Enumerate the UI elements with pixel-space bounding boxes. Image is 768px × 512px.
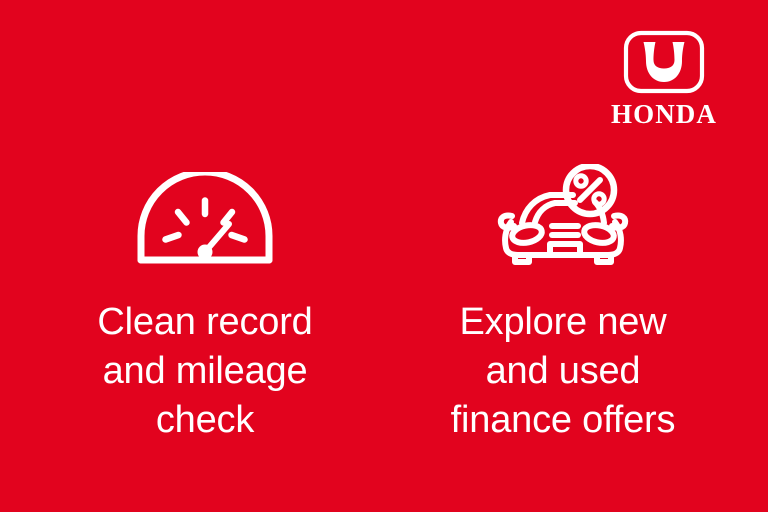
honda-wordmark: HONDA — [598, 99, 730, 129]
honda-brand-lockup: HONDA — [598, 30, 730, 129]
feature-list: Clean record and mileage check — [0, 160, 768, 445]
honda-feature-banner: HONDA — [0, 0, 768, 512]
honda-h-emblem-icon — [623, 30, 705, 94]
speedometer-icon — [133, 172, 277, 268]
honda-wordmark-text: HONDA — [611, 99, 717, 129]
feature-new-used-finance-offers: Explore new and used finance offers — [384, 160, 742, 445]
feature-caption: Explore new and used finance offers — [451, 298, 676, 445]
feature-icon-container — [133, 160, 277, 268]
feature-caption: Clean record and mileage check — [97, 298, 312, 445]
feature-icon-container — [495, 160, 631, 268]
car-percent-offer-icon — [495, 164, 631, 268]
feature-clean-record-mileage-check: Clean record and mileage check — [26, 160, 384, 445]
